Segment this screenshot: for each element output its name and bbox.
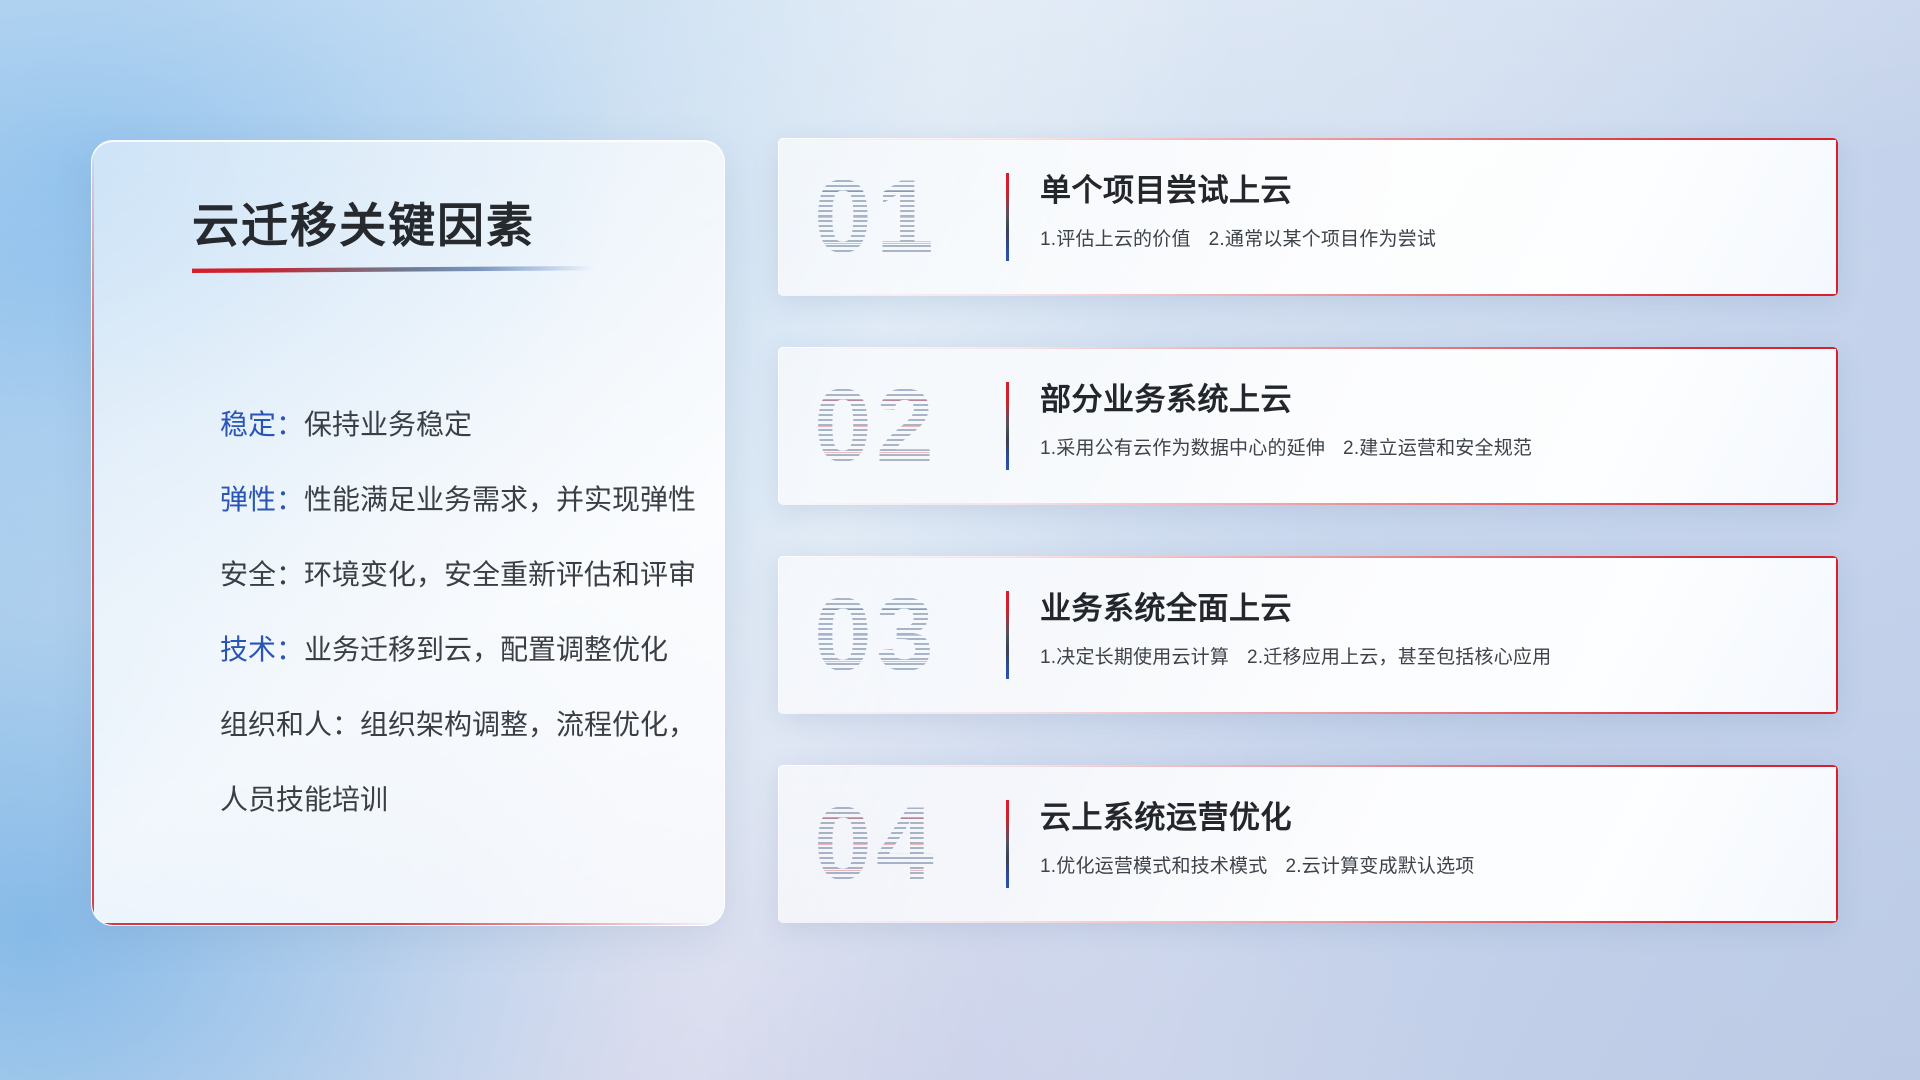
title-underline-rule xyxy=(192,266,592,273)
list-item-text: 保持业务稳定 xyxy=(304,409,472,440)
list-item-text: 性能满足业务需求，并实现弹性 xyxy=(304,484,696,515)
card-point-2: 2.通常以某个项目作为尝试 xyxy=(1209,229,1436,250)
card-title: 单个项目尝试上云 xyxy=(1040,172,1814,211)
card-text-block: 单个项目尝试上云 1.评估上云的价值2.通常以某个项目作为尝试 xyxy=(1040,172,1814,251)
list-item-text: 组织架构调整，流程优化， xyxy=(360,709,696,740)
list-item: 稳定：保持业务稳定 xyxy=(220,387,690,462)
card-divider-bar xyxy=(1006,800,1009,888)
list-item-label: 稳定： xyxy=(220,409,304,440)
card-title: 部分业务系统上云 xyxy=(1040,381,1814,420)
stage-card[interactable]: 02 02 部分业务系统上云 1.采用公有云作为数据中心的延伸2.建立运营和安全… xyxy=(778,347,1838,505)
list-item: 技术：业务迁移到云，配置调整优化 xyxy=(220,612,690,687)
card-point-2: 2.迁移应用上云，甚至包括核心应用 xyxy=(1247,647,1551,668)
key-factors-list: 稳定：保持业务稳定 弹性：性能满足业务需求，并实现弹性 安全：环境变化，安全重新… xyxy=(220,387,690,837)
list-item-label: 安全： xyxy=(220,559,304,590)
list-item: 组织和人：组织架构调整，流程优化， xyxy=(220,687,690,762)
card-text-block: 业务系统全面上云 1.决定长期使用云计算2.迁移应用上云，甚至包括核心应用 xyxy=(1040,590,1814,669)
stage-card[interactable]: 01 01 单个项目尝试上云 1.评估上云的价值2.通常以某个项目作为尝试 xyxy=(778,138,1838,296)
list-item: 弹性：性能满足业务需求，并实现弹性 xyxy=(220,462,690,537)
migration-stage-cards: 01 01 单个项目尝试上云 1.评估上云的价值2.通常以某个项目作为尝试 02… xyxy=(778,138,1838,974)
list-item-label: 技术： xyxy=(220,634,304,665)
list-item-text: 人员技能培训 xyxy=(220,784,388,815)
page-title: 云迁移关键因素 xyxy=(192,187,535,256)
list-item-text: 环境变化，安全重新评估和评审 xyxy=(304,559,696,590)
stage-number-ghost-tint: 02 xyxy=(814,374,938,478)
card-description: 1.决定长期使用云计算2.迁移应用上云，甚至包括核心应用 xyxy=(1040,642,1814,669)
list-item: 安全：环境变化，安全重新评估和评审 xyxy=(220,537,690,612)
card-title: 业务系统全面上云 xyxy=(1040,590,1814,629)
card-divider-bar xyxy=(1006,382,1009,470)
card-title: 云上系统运营优化 xyxy=(1040,799,1814,838)
stage-number-ghost-tint: 03 xyxy=(814,583,938,687)
card-divider-bar xyxy=(1006,591,1009,679)
stage-number-ghost-tint: 04 xyxy=(814,792,938,896)
card-text-block: 部分业务系统上云 1.采用公有云作为数据中心的延伸2.建立运营和安全规范 xyxy=(1040,381,1814,460)
list-item-text: 业务迁移到云，配置调整优化 xyxy=(304,634,668,665)
list-item-label: 弹性： xyxy=(220,484,304,515)
card-point-2: 2.建立运营和安全规范 xyxy=(1343,438,1532,459)
card-description: 1.优化运营模式和技术模式2.云计算变成默认选项 xyxy=(1040,851,1814,878)
card-point-1: 1.评估上云的价值 xyxy=(1040,229,1191,250)
card-text-block: 云上系统运营优化 1.优化运营模式和技术模式2.云计算变成默认选项 xyxy=(1040,799,1814,878)
list-item-continuation: 人员技能培训 xyxy=(220,762,690,837)
card-description: 1.评估上云的价值2.通常以某个项目作为尝试 xyxy=(1040,224,1814,251)
card-description: 1.采用公有云作为数据中心的延伸2.建立运营和安全规范 xyxy=(1040,433,1814,460)
card-point-2: 2.云计算变成默认选项 xyxy=(1285,856,1474,877)
card-point-1: 1.采用公有云作为数据中心的延伸 xyxy=(1040,438,1325,459)
card-divider-bar xyxy=(1006,173,1009,261)
key-factors-panel: 云迁移关键因素 稳定：保持业务稳定 弹性：性能满足业务需求，并实现弹性 安全：环… xyxy=(91,140,725,926)
stage-card[interactable]: 04 04 云上系统运营优化 1.优化运营模式和技术模式2.云计算变成默认选项 xyxy=(778,765,1838,923)
stage-number-ghost-tint: 01 xyxy=(814,165,938,269)
card-point-1: 1.优化运营模式和技术模式 xyxy=(1040,856,1267,877)
card-point-1: 1.决定长期使用云计算 xyxy=(1040,647,1229,668)
list-item-label: 组织和人： xyxy=(220,709,360,740)
stage-card[interactable]: 03 03 业务系统全面上云 1.决定长期使用云计算2.迁移应用上云，甚至包括核… xyxy=(778,556,1838,714)
